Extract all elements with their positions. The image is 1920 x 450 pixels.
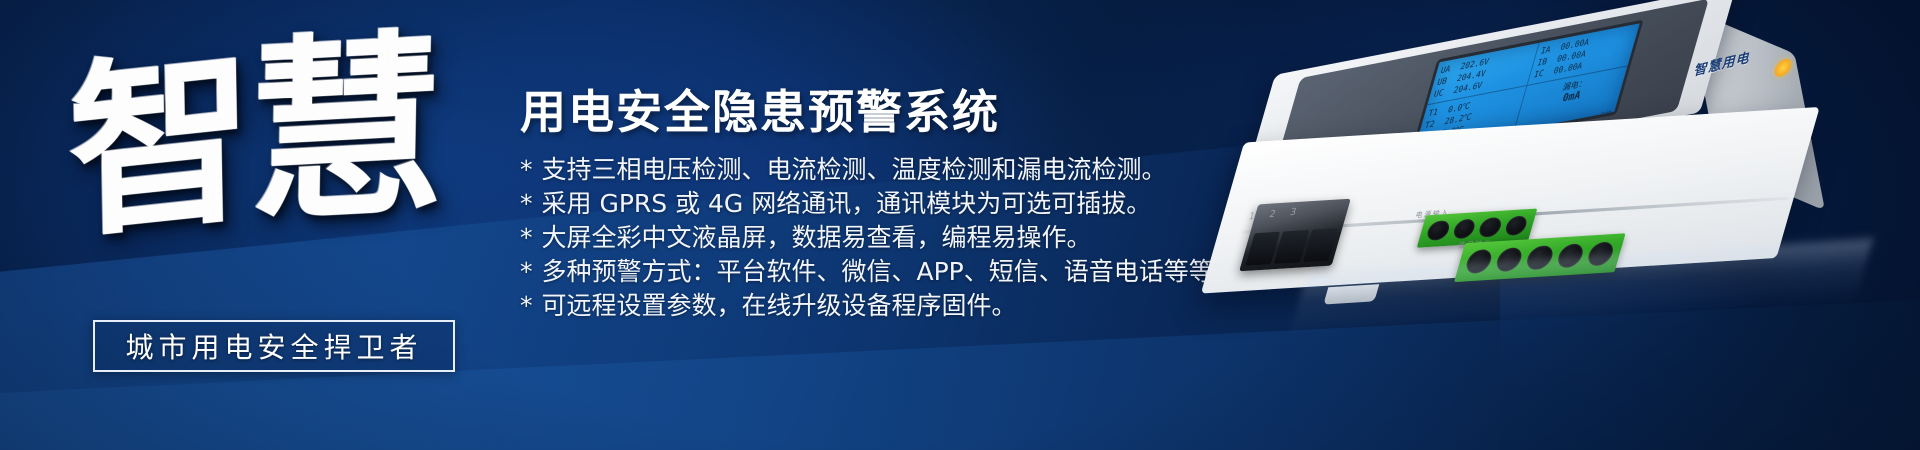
- list-item-label: 采用 GPRS 或 4G 网络通讯，通讯模块为可选可插拔。: [542, 188, 1152, 219]
- terminal-screw: [1451, 218, 1477, 239]
- tagline-box: 城市用电安全捍卫者: [93, 320, 455, 372]
- terminal-screw: [1425, 220, 1451, 241]
- lcd-label-uc: UC: [1432, 85, 1451, 100]
- calligraphy-char-hui: 慧: [246, 27, 445, 234]
- product-image: UA 202.6V UB 204.4V UC 204.6V: [1110, 18, 1910, 348]
- terminal-screw: [1477, 217, 1503, 238]
- calligraphy-char-zhi: 智: [67, 42, 255, 248]
- terminal-screw: [1503, 215, 1529, 236]
- lcd-label-ic: IC: [1532, 66, 1551, 81]
- list-item-label: 大屏全彩中文液晶屏，数据易查看，编程易操作。: [542, 222, 1092, 253]
- connector-number-2: 2: [1268, 209, 1276, 220]
- tagline-text: 城市用电安全捍卫者: [125, 326, 422, 366]
- bullet-mark-icon: *: [520, 222, 533, 253]
- bullet-mark-icon: *: [520, 154, 533, 185]
- bullet-mark-icon: *: [520, 290, 533, 321]
- list-item-label: 支持三相电压检测、电流检测、温度检测和漏电流检测。: [542, 154, 1167, 185]
- device-unit: UA 202.6V UB 204.4V UC 204.6V: [1086, 0, 1920, 421]
- list-item-label: 可远程设置参数，在线升级设备程序固件。: [542, 290, 1017, 321]
- bullet-mark-icon: *: [520, 256, 533, 287]
- connector-number-1: 1: [1247, 211, 1255, 222]
- calligraphy-logo: 智 慧: [62, 24, 422, 314]
- bullet-mark-icon: *: [520, 188, 533, 219]
- promo-banner: 智 慧 城市用电安全捍卫者 用电安全隐患预警系统 * 支持三相电压检测、电流检测…: [0, 0, 1920, 450]
